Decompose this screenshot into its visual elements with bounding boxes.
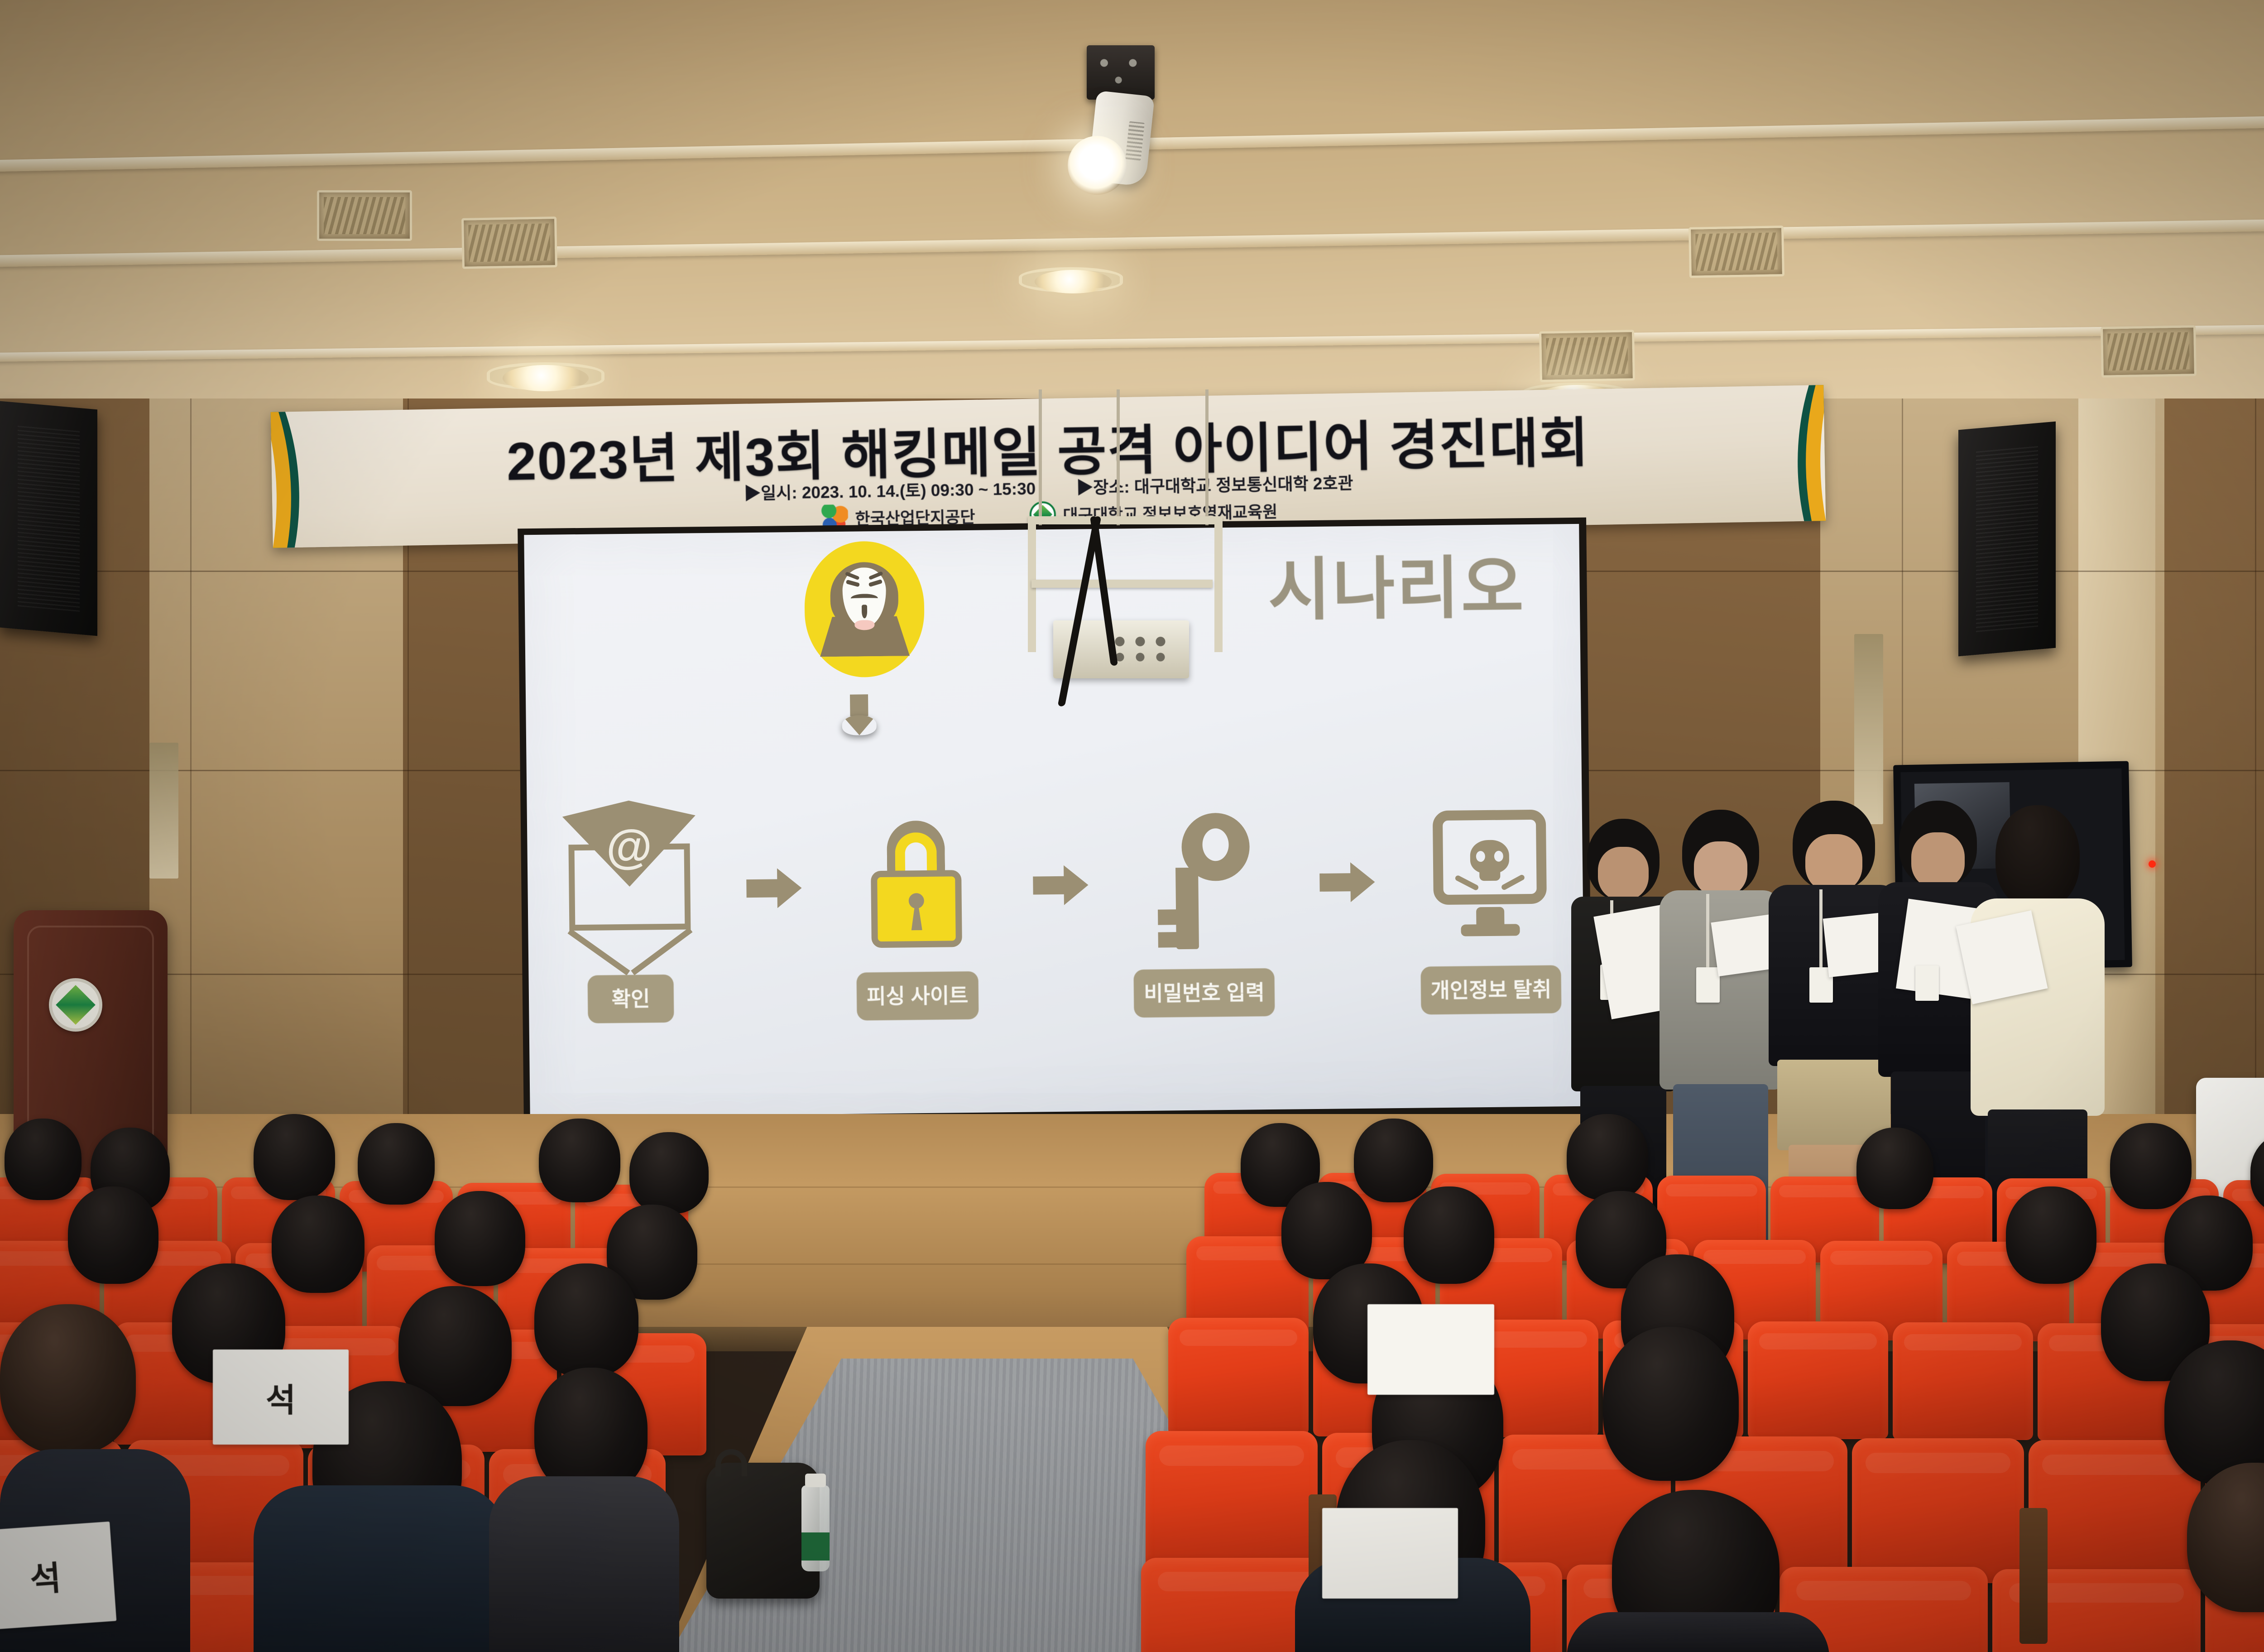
recessed-downlight-icon — [1035, 270, 1112, 293]
ceiling-vent-icon — [1688, 226, 1784, 278]
slide-title: 시나리오 — [1267, 533, 1525, 634]
reserved-seat-sign — [1367, 1304, 1494, 1395]
audience-head — [539, 1119, 620, 1202]
armrest — [2019, 1508, 2048, 1644]
email-at-envelope-icon: @ — [568, 805, 691, 969]
infected-monitor-skull-icon — [1432, 796, 1547, 960]
audience-shoulders — [1567, 1612, 1829, 1652]
monitor-standby-led-icon — [2149, 860, 2156, 868]
audience-head — [0, 1304, 136, 1454]
audience-head — [358, 1123, 435, 1205]
right-arrow-icon — [1312, 797, 1381, 961]
audience-head — [534, 1263, 638, 1377]
audience-shoulders — [489, 1476, 679, 1652]
recessed-downlight-icon — [503, 365, 589, 391]
flow-step-label: 비밀번호 입력 — [1134, 968, 1275, 1018]
flow-step-label: 피싱 사이트 — [857, 971, 979, 1021]
audience-head — [1603, 1327, 1739, 1481]
track-spotlight-mount — [1087, 45, 1155, 100]
audience-head — [435, 1191, 525, 1286]
water-bottle-icon — [801, 1485, 830, 1571]
ceiling-vent-icon — [2101, 325, 2197, 378]
seat[interactable] — [1893, 1322, 2033, 1440]
audience-head — [629, 1132, 709, 1214]
ceiling-vent-icon — [461, 216, 557, 269]
hacker-hoodie-mask-icon — [804, 541, 925, 678]
audience-head — [272, 1196, 365, 1293]
ceiling-vent-icon — [1539, 330, 1635, 382]
audience-shoulders — [254, 1485, 507, 1652]
audience-head — [2006, 1186, 2096, 1284]
flow-step: 개인정보 탈취 — [1414, 796, 1566, 1015]
name-badge — [1915, 965, 1939, 1001]
audience-head — [1856, 1128, 1933, 1209]
key-icon — [1155, 799, 1252, 963]
audience-head — [534, 1368, 648, 1494]
daegu-univ-emblem-icon — [49, 978, 102, 1032]
seat[interactable] — [1852, 1438, 2024, 1583]
seat[interactable] — [1168, 1318, 1309, 1436]
right-arrow-icon — [1025, 801, 1094, 965]
ceiling-projector-icon — [1028, 516, 1223, 706]
auditorium-scene: 2023년 제3회 해킹메일 공격 아이디어 경진대회 ▶일시: 2023. 1… — [0, 0, 2264, 1652]
wall-speaker-icon — [0, 401, 97, 636]
name-badge — [1696, 967, 1720, 1003]
audience-head — [2110, 1123, 2192, 1209]
audience-head — [254, 1114, 335, 1200]
flow-step: @ 확인 — [554, 805, 706, 1024]
script-paper — [1956, 910, 2048, 1004]
audience-head — [1404, 1186, 1494, 1284]
wall-speaker-icon — [1958, 422, 2056, 657]
audience-head — [1354, 1119, 1433, 1202]
wall-niche — [149, 743, 178, 879]
spotlight-beam — [1068, 136, 1127, 195]
banner-date: ▶일시: 2023. 10. 14.(토) 09:30 ~ 15:30 — [744, 475, 1036, 504]
flow-step-label: 개인정보 탈취 — [1420, 965, 1562, 1015]
audience-head — [5, 1119, 82, 1200]
seat[interactable] — [2029, 1440, 2201, 1585]
audience-head — [1567, 1114, 1648, 1200]
wall-niche — [1854, 634, 1883, 824]
reserved-seat-sign — [1322, 1508, 1458, 1599]
attack-flow-diagram: @ 확인 — [554, 796, 1566, 1024]
audience-head — [68, 1186, 158, 1284]
reserved-seat-sign: 석 — [213, 1349, 349, 1445]
flow-step: 피싱 사이트 — [841, 802, 993, 1021]
right-arrow-icon — [738, 804, 808, 968]
seat[interactable] — [1146, 1431, 1318, 1576]
flow-step: 비밀번호 입력 — [1127, 799, 1279, 1018]
flow-step-label: 확인 — [587, 975, 674, 1023]
reserved-seat-sign: 석 — [0, 1522, 116, 1630]
padlock-icon — [870, 802, 963, 966]
ceiling-vent-icon — [317, 190, 412, 241]
seat[interactable] — [1748, 1321, 1888, 1439]
